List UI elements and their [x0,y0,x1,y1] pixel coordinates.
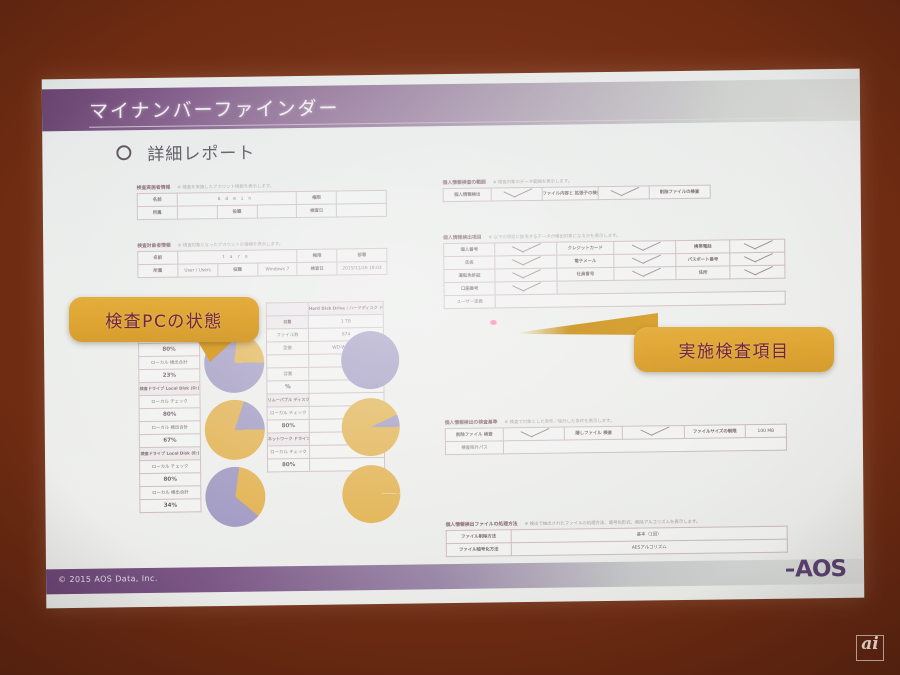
slide-footer-bar: © 2015 AOS Data, Inc. [46,559,864,595]
stat-value: 34% [140,499,201,513]
check-icon [628,255,662,264]
cell-check [598,186,649,200]
stat-value: 67% [139,434,200,448]
cell-exclude-path-value [503,437,786,454]
check-icon [509,269,543,278]
cell-label: 氏名 [444,256,495,270]
stat-label: ローカル チェック [267,445,309,459]
cell-check [614,241,675,255]
slide-header-bar: マイナンバーファインダー [42,79,860,132]
table-row: 所属 役職 検査日 [137,203,386,219]
copyright-text: © 2015 AOS Data, Inc. [58,574,158,584]
cell-label: 名前 [138,251,178,265]
cell-check [495,268,556,282]
cell-label: 所属 [138,264,178,278]
cell-label: ファイル削除方法 [446,530,511,544]
pie-slice-group [205,399,266,460]
cell-label: 削除ファイルの検査 [649,185,711,199]
logo-text: AOS [795,556,846,583]
cell-check [491,187,542,201]
cell-label: 検査日 [297,262,337,276]
cell-label: 検査日 [297,204,337,218]
caption-note: ※ 検査対象のデータ範囲を表示します。 [493,178,572,185]
cell-blank [730,278,785,292]
cell-check [730,239,785,253]
pie-chart-removable-g [342,398,401,457]
caption-note: ※ 検出で抽出されたファイルの処理方法、暗号化形式、削除アルゴリズムを表示します… [525,519,701,527]
caption-note: ※ 検査で対象とした条件／除外した条件を表示します。 [504,418,614,425]
table-row: 80% [139,343,200,357]
section-delete-method: 個人情報検出ファイルの処理方法 ※ 検出で抽出されたファイルの処理方法、暗号化形… [446,517,788,557]
caption-note: ※ 検査を実施したアカウント情報を表示します。 [177,183,274,190]
cell-label: 運転免許証 [444,269,495,283]
cell-check [614,267,675,281]
table-row: ローカル 検出合計 [139,421,200,435]
stat-label: 型番 [267,341,309,355]
stat-title: 検査ドライブ Local Disk (D:) [139,382,200,396]
aos-logo: AOS [786,556,846,583]
laser-pointer-dot [489,320,498,325]
section-scan-scope: 個人情報検出の検査基準 ※ 検査で対象とした条件／除外した条件を表示します。 削… [445,415,787,455]
caption-note: ※ 以下の項目に該当するデータが検出対象になるかを表示します。 [488,233,620,241]
stat-label: ローカル 検出合計 [140,486,201,500]
cell-check [495,281,556,295]
stat-value: 23% [139,369,200,383]
caption-title: 検査実施者情報 [137,184,171,191]
cell-value: User / Users [178,264,218,278]
stat-value: % [267,380,309,394]
table-row: 80% [139,408,200,422]
admin-account-table: 名前 Admin 権限 所属 役職 検査日 [137,190,387,220]
check-icon [628,242,662,251]
cell-label-exclude-path: 検査除外パス [445,441,503,455]
stat-label: ローカル 検出合計 [139,356,200,370]
stat-value: 80% [139,343,200,357]
stat-value: 80% [139,408,200,422]
table-row: 67% [139,434,200,448]
table-row: 34% [140,499,201,513]
cell-value: AESアルゴリズム [511,539,787,556]
stat-value: 80% [140,473,201,487]
table-row: 所属 User / Users 役職 Windows 7 検査日 2015/11… [138,261,387,277]
stat-label: ローカル チェック [140,460,201,474]
check-icon [509,256,543,265]
table-row: 23% [139,369,200,383]
cell-label: 個人番号 [444,243,495,257]
check-icon [740,240,774,249]
circle-bullet-icon [116,145,131,160]
cell-label: 個人情報検出 [443,188,491,202]
check-icon [741,266,775,275]
cell-check [623,425,684,439]
watermark-text: ai [861,636,878,652]
cell-blank [676,279,731,293]
cell-blank [614,280,675,294]
stat-header-label [266,302,308,316]
table-row: 80% [140,473,201,487]
cell-check [495,242,556,256]
cell-value: 2015/11/26 19:03 [337,261,387,275]
check-icon [628,268,662,277]
cell-label: 部署 [337,248,387,262]
callout-inspection-items-label: 実施検査項目 [679,337,790,362]
cell-label: 住所 [676,266,731,280]
cell-user-defined-value [495,291,785,308]
page-title: マイナンバーファインダー [89,93,340,123]
check-icon [500,188,534,197]
table-row: ローカル 検出合計 [140,486,201,500]
projected-slide-photo: マイナンバーファインダー 詳細レポート 検査実施者情報 ※ 検査を実施したアカウ… [0,0,900,675]
logo-dash-icon [786,569,794,572]
slide-subtitle: 詳細レポート [116,139,255,166]
cell-value [336,190,386,204]
caption-title: 個人情報検査の範囲 [443,179,486,187]
cell-value [177,206,217,220]
callout-pc-status-label: 検査PCの状態 [105,307,223,332]
stat-value: 1 TB [308,314,383,328]
cell-label: 口座番号 [444,282,495,296]
cell-label: 携帯電話 [676,240,731,254]
stat-label: 容量 [267,367,309,381]
cell-value [257,205,297,219]
section-scan-target: 個人情報検査の範囲 ※ 検査対象のデータ範囲を表示します。 個人情報検出 ファイ… [443,176,711,203]
check-icon [509,243,543,252]
detect-items-table: 個人番号 クレジットカード 携帯電話 氏名 電子メール パスポート番号 運転 [443,239,786,309]
watermark-logo: ai [856,635,884,661]
check-icon [636,427,670,436]
caption-title: 個人情報検出の検査基準 [445,418,498,426]
caption-title: 個人情報検出ファイルの処理方法 [446,520,518,528]
check-icon [740,253,774,262]
cell-label: 隠しファイル 検査 [565,426,623,440]
check-icon [509,282,543,291]
pie-slice-group [205,466,266,527]
cell-label: 名前 [137,193,177,207]
cell-blank [557,280,615,294]
callout-inspection-items: 実施検査項目 [634,327,834,372]
cell-check [495,255,556,269]
cell-label: 役職 [218,263,258,277]
stat-label [267,354,309,368]
scan-target-table: 個人情報検出 ファイル内容と 拡張子の検査 削除ファイルの検査 [443,185,711,203]
table-row: 検査ドライブ Local Disk (D:) [139,382,200,396]
pie-chart-network-drive [342,465,401,524]
stat-value: 80% [268,458,310,472]
cell-value [337,203,387,217]
stat-label: ファイル数 [266,328,308,342]
scan-scope-table: 削除ファイル 検査 隠しファイル 検査 ファイルサイズの制限 100 MB 検査… [445,424,787,455]
stat-label: 容量 [266,315,308,329]
section-detect-items: 個人情報検出項目 ※ 以下の項目に該当するデータが検出対象になるかを表示します。… [443,230,786,309]
cell-check [614,254,675,268]
section-user-account: 検査対象者情報 ※ 検査対象となったアカウントの情報を表示します。 名前 tar… [137,239,387,278]
pie-chart-drive-e [205,466,266,527]
stat-label: ローカル チェック [267,406,309,420]
stat-label: ローカル 検出合計 [139,421,200,435]
table-row: 個人情報検出 ファイル内容と 拡張子の検査 削除ファイルの検査 [443,185,710,201]
stat-value: 80% [267,419,309,433]
stat-header-value: Hard Disk Drive / ハードディスク ドライブ [308,301,383,315]
caption-note: ※ 検査対象となったアカウントの情報を表示します。 [178,241,284,248]
subtitle-label: 詳細レポート [147,139,255,165]
stat-title: ネットワーク ドライブ [267,432,309,446]
table-row: 検査ドライブ Local Disk (E:) [139,447,200,461]
pie-slice-group [342,465,401,524]
delete-method-table: ファイル削除方法 基本（1回） ファイル暗号化方法 AESアルゴリズム [446,526,788,557]
callout-pc-status: 検査PCの状態 [69,297,259,342]
cell-value: 100 MB [745,424,786,438]
cell-check [503,427,564,441]
user-account-table: 名前 taro 権限 部署 所属 User / Users 役職 Windows… [137,248,387,278]
check-icon [517,428,551,437]
cell-label: ファイルサイズの制限 [684,425,745,439]
table-row: ローカル 検出合計 [139,356,200,370]
cell-check [730,265,785,279]
cell-label-user-defined: ユーザー定義 [444,295,495,309]
cell-label: 社員番号 [556,267,614,281]
table-row: ローカル チェック [140,460,201,474]
cell-label: クレジットカード [556,241,614,255]
check-icon [606,187,640,196]
cell-label: 所属 [137,206,177,220]
caption-title: 検査対象者情報 [137,242,171,249]
cell-label: ファイル暗号化方法 [446,543,511,557]
stat-title: 検査ドライブ Local Disk (E:) [139,447,200,461]
cell-label: ファイル内容と 拡張子の検査 [542,187,598,201]
pie-slice-group [342,398,401,457]
pie-chart-removable-f [341,331,400,390]
cell-label: 役職 [217,205,257,219]
cell-label: 権限 [297,191,337,205]
cell-label: 削除ファイル 検査 [445,428,503,442]
cell-label: 権限 [297,249,337,263]
pie-chart-drive-d [205,399,266,460]
table-row: ローカル チェック [139,395,200,409]
cell-label: パスポート番号 [676,253,731,267]
cell-check [730,252,785,266]
cell-label: 電子メール [556,254,614,268]
stat-title: リムーバブル ディスク (G:) [267,393,309,407]
cell-value: Windows 7 [257,263,297,277]
caption-title: 個人情報検出項目 [443,234,481,242]
section-admin-account: 検査実施者情報 ※ 検査を実施したアカウント情報を表示します。 名前 Admin… [137,181,387,220]
stat-label: ローカル チェック [139,395,200,409]
pie-slice-group [341,331,400,390]
